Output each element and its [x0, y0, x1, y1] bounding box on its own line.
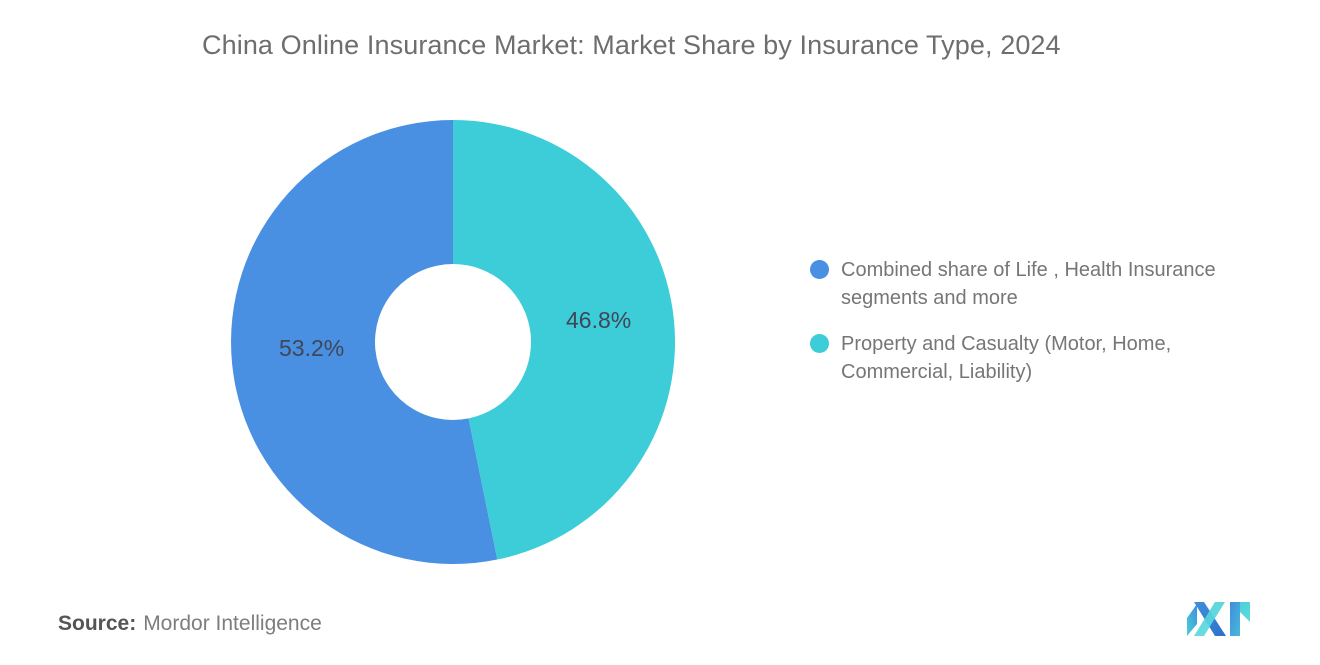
- chart-legend: Combined share of Life , Health Insuranc…: [810, 256, 1280, 404]
- chart-title: China Online Insurance Market: Market Sh…: [202, 30, 1202, 61]
- donut-label-property-casualty: 46.8%: [566, 307, 631, 334]
- logo-svg: [1186, 598, 1254, 638]
- legend-item-label: Property and Casualty (Motor, Home, Comm…: [841, 330, 1261, 386]
- mordor-intelligence-logo-icon: [1186, 598, 1254, 638]
- legend-item-label: Combined share of Life , Health Insuranc…: [841, 256, 1261, 312]
- source-line: Source:Mordor Intelligence: [58, 612, 322, 636]
- donut-label-combined-life-health: 53.2%: [279, 335, 344, 362]
- source-label: Source:: [58, 612, 136, 635]
- legend-color-swatch-icon: [810, 260, 829, 279]
- donut-slice-property-casualty[interactable]: [453, 120, 675, 560]
- source-value: Mordor Intelligence: [143, 612, 322, 635]
- legend-color-swatch-icon: [810, 334, 829, 353]
- legend-item-combined-life-health[interactable]: Combined share of Life , Health Insuranc…: [810, 256, 1280, 312]
- legend-item-property-casualty[interactable]: Property and Casualty (Motor, Home, Comm…: [810, 330, 1280, 386]
